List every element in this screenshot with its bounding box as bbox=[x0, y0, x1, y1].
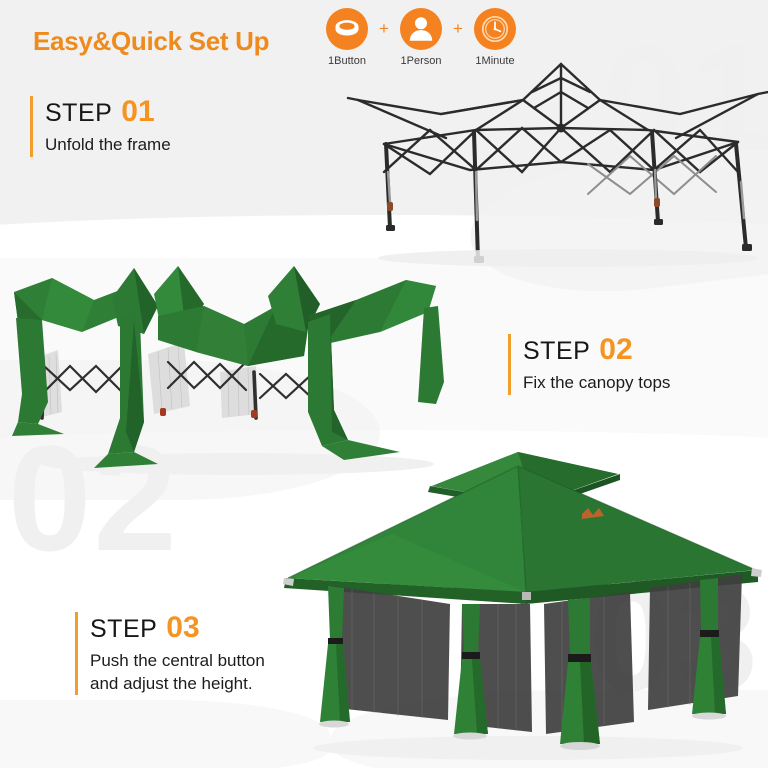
step-01-description: Unfold the frame bbox=[45, 134, 171, 156]
clock-icon bbox=[474, 8, 516, 50]
illustration-frame-skeleton bbox=[318, 52, 768, 267]
frame-skeleton-svg bbox=[318, 52, 768, 267]
setup-infographic: 01 02 03 Easy&Quick Set Up 1Button + bbox=[0, 0, 768, 768]
step-01-heading: STEP01 bbox=[45, 96, 171, 128]
step-02-description: Fix the canopy tops bbox=[523, 372, 670, 394]
step-03-heading: STEP03 bbox=[90, 612, 265, 644]
person-icon-circle bbox=[400, 8, 442, 50]
step-block-03: STEP03 Push the central button and adjus… bbox=[75, 612, 265, 695]
step-03-description: Push the central button and adjust the h… bbox=[90, 650, 265, 695]
step-02-label: STEP bbox=[523, 337, 590, 365]
step-03-number: 03 bbox=[166, 611, 199, 644]
badge-separator-1: + bbox=[376, 8, 392, 50]
step-block-02: STEP02 Fix the canopy tops bbox=[508, 334, 670, 395]
clock-icon-circle bbox=[474, 8, 516, 50]
badge-separator-2: + bbox=[450, 8, 466, 50]
page-title: Easy&Quick Set Up bbox=[33, 26, 269, 57]
canopy-draped-svg bbox=[8, 262, 448, 482]
step-03-label: STEP bbox=[90, 615, 157, 643]
illustration-canopy-draped bbox=[8, 262, 448, 482]
background-shadow-d bbox=[0, 700, 330, 768]
button-icon-circle bbox=[326, 8, 368, 50]
button-icon bbox=[326, 8, 368, 50]
step-block-01: STEP01 Unfold the frame bbox=[30, 96, 171, 157]
illustration-assembled-gazebo bbox=[282, 452, 764, 762]
step-01-label: STEP bbox=[45, 99, 112, 127]
step-01-number: 01 bbox=[121, 95, 154, 128]
person-icon bbox=[400, 8, 442, 50]
step-02-heading: STEP02 bbox=[523, 334, 670, 366]
assembled-gazebo-svg bbox=[282, 452, 764, 762]
step-02-number: 02 bbox=[599, 333, 632, 366]
